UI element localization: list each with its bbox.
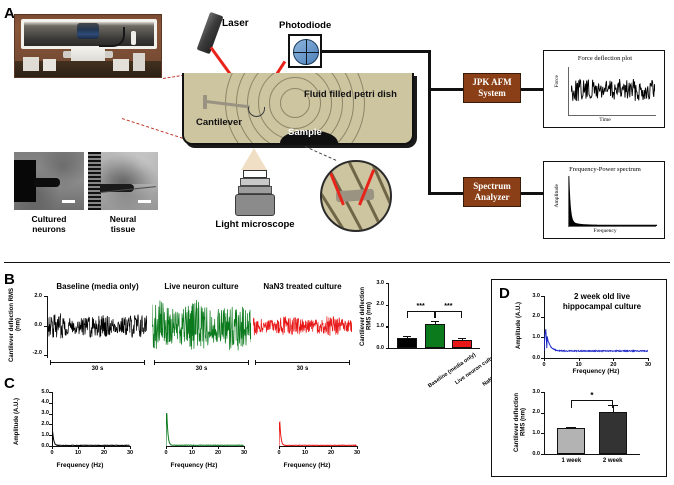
scalebar-label-live: 30 s [154,366,249,372]
significance-marker: *** [435,303,463,310]
xtick-label: 20 [99,450,109,456]
ytick-label: 1.0 [524,430,540,436]
bar [397,338,417,348]
force-plot-title: Force deflection plot [544,55,666,62]
error-bar [407,337,408,338]
caption-cultured-neurons: Cultured neurons [14,214,84,234]
panel-b-bar-xaxis [388,348,480,349]
xtick-label: 20 [326,450,336,456]
dish-label: Fluid filled petri dish [304,89,397,100]
ytick-label: 0.0 [376,345,384,351]
microscope-label: Light microscope [213,219,297,230]
ytick-label: 3.0 [41,410,49,416]
ytick-label: 0.0 [524,451,540,457]
force-plot-xlabel: Time [544,117,666,123]
jpk-label-line-1: JPK AFM [472,77,511,88]
ytick-0: 0.0 [34,322,42,328]
spectrum-analyzer-box: Spectrum Analyzer [463,177,521,207]
microscope-base [235,194,275,216]
wire-analyzer-to-plot [521,192,543,195]
spectrum-curve [279,392,357,448]
lab-box-4 [133,53,145,71]
xtick-label: 30 [352,450,362,456]
panel-c-spectrum-nan3: 0102030 [253,384,361,462]
lab-box-3 [113,59,129,71]
photodiode-icon [288,34,322,68]
panel-d-spectrum-xlabel: Frequency (Hz) [536,368,656,375]
scalebar-live [154,362,249,363]
caption-line-2: tissue [88,224,158,234]
probe-shank [14,160,36,202]
wire-vertical-bus [428,50,431,194]
panel-c-xlabel-1: Frequency (Hz) [140,462,248,469]
trace-live-neuron [152,296,251,358]
xtick-label: 10 [300,450,310,456]
ytick-label: 2.0 [526,313,540,319]
panel-b-bar-yticks: 0.01.02.03.0 [370,283,386,349]
xtick-label: 0 [47,450,57,456]
leader-line-zoom [305,146,336,161]
laser-label: Laser [222,18,249,29]
significance-bracket [407,311,435,318]
caption-neural-tissue: Neural tissue [88,214,158,234]
panel-b-bar-xlabels: Baseline (media only)Live neuron culture… [389,351,480,379]
ytick-neg2: -2.0 [33,350,42,356]
panel-c-xlabel-0: Frequency (Hz) [26,462,134,469]
ytick-label: 2.0 [524,409,540,415]
scalebar-label-baseline: 30 s [50,366,145,372]
scalebar-nan3 [255,362,350,363]
xtick-label: 0 [161,450,171,456]
force-plot-ylabel: Force [554,75,560,88]
ytick-label: 4.0 [41,399,49,405]
ytick-label: 2.0 [41,421,49,427]
significance-marker: *** [407,303,435,310]
trace-title-baseline: Baseline (media only) [48,282,147,291]
spectrum-label-line-1: Spectrum [473,181,511,192]
scale-bar [138,200,151,203]
panel-c-ylabel: Amplitude (A.U.) [14,386,21,458]
magnified-tip-inset [320,160,392,232]
panel-d-spectrum-curve [544,296,648,360]
bar [599,412,627,454]
wire-to-afm [428,88,463,91]
illumination-cone [241,148,267,170]
panel-c-spectrum-baseline: 5.04.03.02.01.00.00102030 [26,384,134,462]
ytick-label: 1.0 [376,323,384,329]
jpk-afm-system-box: JPK AFM System [463,73,521,103]
panel-d-bar-chart: 0.01.02.03.01 week2 week* [524,384,656,472]
freq-plot-title: Frequency-Power spectrum [544,166,666,173]
photodiode-label: Photodiode [279,20,331,31]
force-deflection-plot: Force deflection plot Force Time [543,50,665,128]
significance-bracket [571,400,612,408]
objective-mid2 [238,186,272,194]
wire-photodiode-out [322,50,430,53]
error-bar [435,322,436,323]
bar [452,340,472,348]
freq-plot-xlabel: Frequency [544,228,666,234]
ytick-label: 2.0 [376,301,384,307]
error-bar [613,405,614,412]
significance-marker: * [571,391,612,400]
panel-d-spectrum-plot: 0.01.02.03.00102030 [526,290,656,370]
probe-tip [34,178,60,187]
leader-line-bottom [122,118,183,139]
ytick-label: 0.0 [41,443,49,449]
xtick-label: 0 [274,450,284,456]
ytick-label: 3.0 [524,389,540,395]
micrograph-neural-tissue [88,152,158,210]
scale-bar [62,200,75,203]
bar [425,324,445,348]
trace-baseline [48,296,147,358]
panel-b-bar-chart: Cantilever deflection RMS (nm) 0.01.02.0… [360,283,482,379]
cantilever-label: Cantilever [196,117,242,128]
panel-d-letter: D [499,286,510,301]
panel-d-bar-yaxis [544,392,545,454]
lab-box-1 [23,57,39,71]
panel-b-ylabel: Cantilever deflection RMS (nm) [9,288,22,362]
wire-afm-to-plot [521,88,543,91]
scalebar-label-nan3: 30 s [255,366,350,372]
photodiode-crosshair-horizontal [293,52,319,54]
panel-d-bar-xaxis [544,454,640,455]
trace-title-nan3: NaN3 treated culture [253,282,352,291]
bar-category-label: 1 week [551,458,591,464]
bar-category-label: 2 week [593,458,633,464]
panel-c-xlabel-2: Frequency (Hz) [253,462,361,469]
panel-d-spectrum-ylabel: Amplitude (A.U.) [516,294,523,358]
xtick-label: 30 [125,450,135,456]
ytick-2: 2.0 [34,293,42,299]
wire-to-analyzer [428,192,463,195]
significance-bracket [435,311,463,318]
ytick-label: 3.0 [376,280,384,286]
trace-nan3 [253,296,352,358]
xtick-label: 30 [239,450,249,456]
panel-b-bars: ****** [389,283,480,348]
xtick-label: 10 [73,450,83,456]
error-bar [462,339,463,340]
petri-dish-schematic: Fluid filled petri dish Cantilever Sampl… [182,73,414,145]
spectrum-label-line-2: Analyzer [475,192,510,203]
panel-b-letter: B [4,272,15,287]
spectrum-curve [52,392,130,448]
bar [557,428,585,454]
caption-line-1: Neural [88,214,158,224]
ytick-label: 5.0 [41,389,49,395]
tube [131,31,136,45]
scalebar-baseline [50,362,145,363]
xtick-label: 10 [187,450,197,456]
jpk-label-line-2: System [478,88,506,99]
ytick-label: 0.0 [526,355,540,361]
scope-head [77,23,99,39]
ytick-label: 3.0 [526,293,540,299]
sample-label: Sample [288,127,322,138]
xtick-label: 20 [213,450,223,456]
objective-mid [240,178,270,186]
micrograph-cultured-neurons [14,152,84,210]
objective-lens [243,170,267,178]
figure-root: A Cultured neurons Neural tissue [0,0,674,485]
panel-divider [4,262,670,263]
tissue-region [100,154,158,184]
frequency-power-plot: Frequency-Power spectrum Amplitude Frequ… [543,161,665,239]
caption-line-2: neurons [14,224,84,234]
ytick-label: 1.0 [526,334,540,340]
lab-box-2 [43,59,56,71]
freq-spectrum-trace [569,176,657,226]
spectrum-curve [166,392,244,448]
trace-title-live: Live neuron culture [152,282,251,291]
caption-line-1: Cultured [14,214,84,224]
instrument-photo [14,14,162,78]
ytick-label: 1.0 [41,432,49,438]
force-noise-trace [571,77,655,103]
panel-c-spectrum-live: 0102030 [140,384,248,462]
panel-d-box: D 2 week old live hippocampal culture Am… [491,279,667,477]
freq-plot-ylabel: Amplitude [554,184,560,208]
